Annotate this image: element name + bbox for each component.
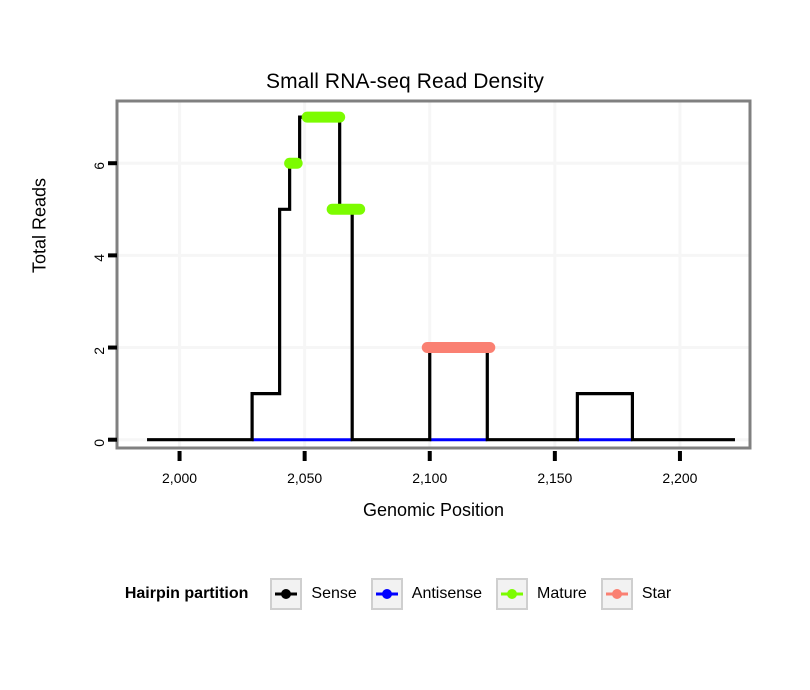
- legend-title: Hairpin partition: [125, 585, 249, 603]
- chart-page: Small RNA-seq Read Density Total Reads G…: [0, 0, 810, 690]
- legend-item-antisense[interactable]: Antisense: [371, 578, 482, 610]
- y-tick-label: 2: [91, 347, 107, 377]
- legend-item-mature[interactable]: Mature: [496, 578, 587, 610]
- x-tick-label: 2,150: [520, 470, 590, 486]
- y-tick-label: 4: [91, 254, 107, 284]
- x-tick-label: 2,200: [645, 470, 715, 486]
- x-tick-label: 2,000: [145, 470, 215, 486]
- x-tick-label: 2,050: [270, 470, 340, 486]
- legend-key-icon: [496, 578, 528, 610]
- legend-key-icon: [270, 578, 302, 610]
- legend-item-label: Mature: [537, 585, 587, 603]
- x-tick-label: 2,100: [395, 470, 465, 486]
- legend-item-star[interactable]: Star: [601, 578, 671, 610]
- panel-background: [117, 101, 750, 448]
- legend-item-label: Antisense: [412, 585, 482, 603]
- legend-item-sense[interactable]: Sense: [270, 578, 356, 610]
- legend-key-icon: [371, 578, 403, 610]
- legend-item-label: Sense: [311, 585, 356, 603]
- y-tick-label: 0: [91, 439, 107, 469]
- y-tick-label: 6: [91, 162, 107, 192]
- legend-item-label: Star: [642, 585, 671, 603]
- legend-key-icon: [601, 578, 633, 610]
- legend: Hairpin partition SenseAntisenseMatureSt…: [0, 578, 810, 610]
